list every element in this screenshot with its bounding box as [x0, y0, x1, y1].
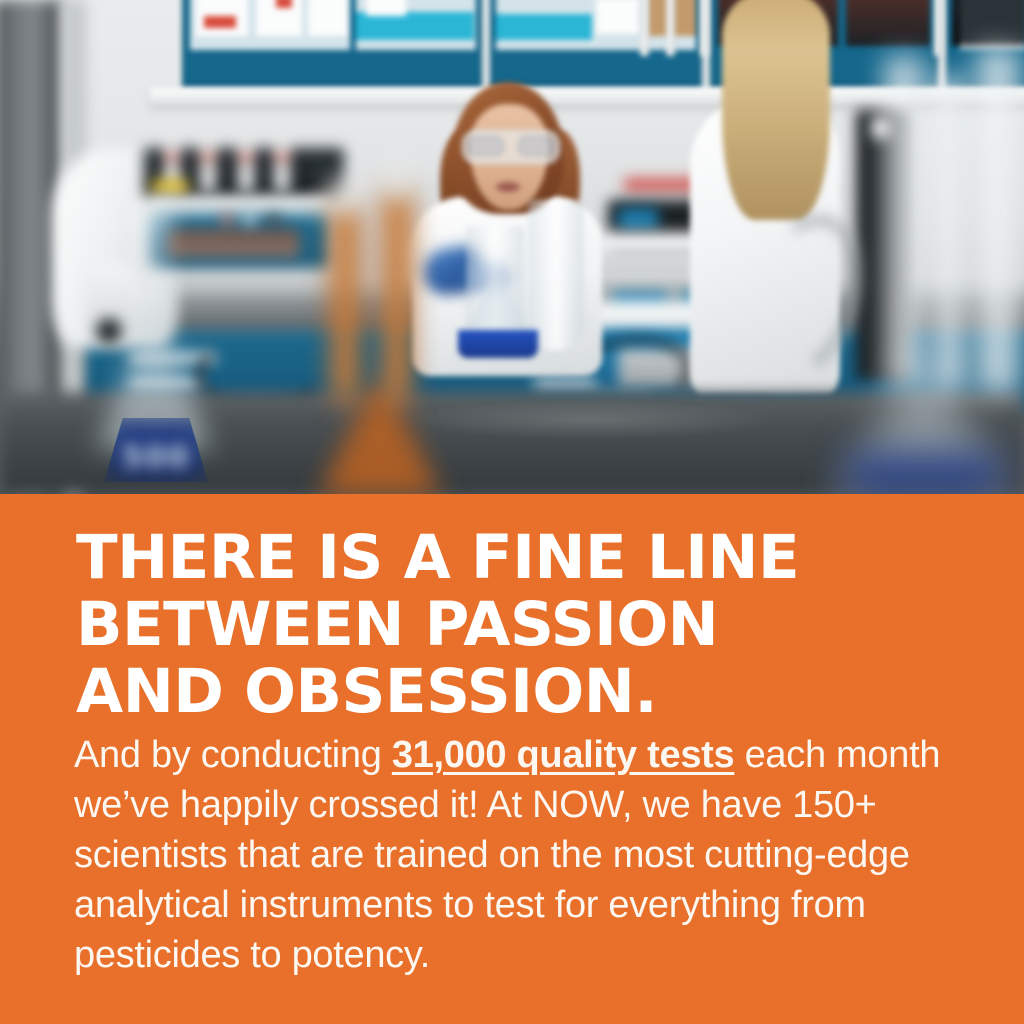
large-flask-right-liquid	[846, 456, 1002, 494]
graduated-cylinder-1	[884, 56, 926, 386]
cabinet-interior-2	[846, 0, 930, 46]
instrument-screen	[166, 228, 300, 258]
graduated-cylinder-2	[932, 76, 968, 392]
body-lead: And by conducting	[74, 734, 392, 776]
instrument-knob	[266, 214, 281, 229]
headline-line-2: BETWEEN PASSION	[76, 591, 956, 658]
yellow-label-tag	[152, 180, 188, 194]
page-title: THERE IS A FINE LINE BETWEEN PASSION AND…	[76, 524, 956, 725]
flask-center-liquid	[458, 330, 538, 358]
poster: 500 THERE IS A FINE LINE BETWEEN PASSION…	[0, 0, 1024, 1024]
cabinet-rod-2	[666, 0, 675, 56]
body-paragraph: And by conducting 31,000 quality tests e…	[74, 730, 954, 980]
flask-500ml-neck	[142, 214, 164, 310]
sample-tube-3	[238, 140, 254, 192]
right-scientist-hair	[722, 0, 830, 220]
sample-tube-2	[200, 140, 216, 192]
headline-line-1: THERE IS A FINE LINE	[76, 524, 956, 591]
cabinet-rod-3	[700, 0, 709, 56]
flask-500ml-label: 500	[122, 440, 191, 475]
blue-equipment-1	[618, 208, 658, 230]
amber-neck-2	[382, 186, 412, 400]
flask-500ml-lip	[136, 206, 170, 224]
cabinet-rod-1	[640, 0, 649, 56]
amber-cap-1	[328, 180, 362, 210]
cabinet-glass-1	[190, 0, 350, 50]
amber-cap-2	[380, 166, 414, 196]
lab-photo: 500	[0, 0, 1024, 494]
sample-tube-4	[274, 140, 290, 192]
center-scientist-mouth	[496, 182, 520, 192]
graduated-cylinder-3	[976, 48, 1022, 394]
amber-neck-1	[330, 200, 360, 400]
instrument-button-white	[244, 214, 255, 225]
safety-goggles	[462, 130, 560, 164]
cabinet-glass-2	[356, 0, 476, 50]
headline-line-3: AND OBSESSION.	[76, 658, 956, 725]
orange-text-panel: THERE IS A FINE LINE BETWEEN PASSION AND…	[0, 494, 1024, 1024]
cabinet-rod-4	[934, 0, 943, 56]
bench-highlight	[400, 400, 780, 440]
instrument-button-red	[222, 214, 233, 225]
body-emphasis-stat: 31,000 quality tests	[392, 734, 735, 776]
cabinet-glass-4	[960, 0, 1024, 50]
